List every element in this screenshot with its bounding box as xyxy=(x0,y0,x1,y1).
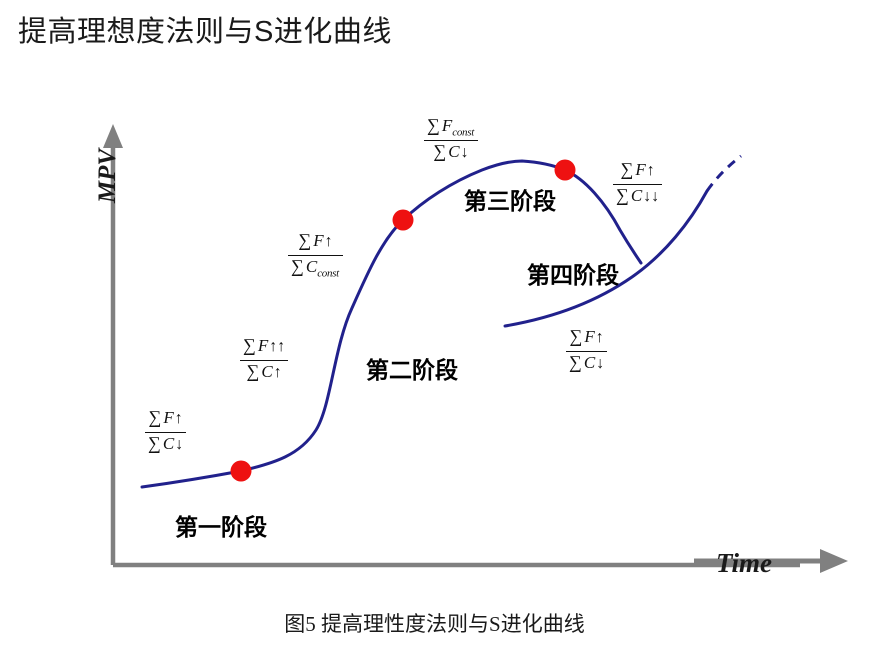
sigma-icon: ∑ xyxy=(427,115,440,135)
sigma-icon: ∑ xyxy=(243,335,256,355)
formula-denominator: ∑C↓ xyxy=(145,433,186,457)
up-arrow-icon: ↑ xyxy=(646,162,655,179)
formula-variable: F xyxy=(633,160,645,179)
up-arrow-icon: ↑ xyxy=(595,329,604,346)
formula-denominator: ∑C↓↓ xyxy=(613,185,662,209)
formula-stage-3: ∑Fconst ∑C↓ xyxy=(424,116,478,165)
formula-denominator: ∑Cconst xyxy=(288,256,343,280)
formula-variable: C xyxy=(161,434,174,453)
sigma-icon: ∑ xyxy=(148,433,161,453)
formula-variable: F xyxy=(582,327,594,346)
figure-caption: 图5 提高理性度法则与S进化曲线 xyxy=(0,608,869,638)
up-arrow-icon: ↑ xyxy=(273,364,282,381)
stage-1-label: 第一阶段 xyxy=(175,508,267,542)
formula-variable: F xyxy=(161,408,173,427)
sigma-icon: ∑ xyxy=(620,159,633,179)
stage-3-label: 第三阶段 xyxy=(464,182,556,216)
formula-variable: C xyxy=(582,353,595,372)
up-arrow-icon: ↑ xyxy=(324,233,333,250)
sigma-icon: ∑ xyxy=(569,352,582,372)
down-arrow-icon: ↓ xyxy=(460,144,469,161)
stage-2-to-3-marker xyxy=(393,210,414,231)
formula-variable: F xyxy=(311,231,323,250)
formula-variable: F xyxy=(256,336,268,355)
slide-canvas: 提高理想度法则与S进化曲线 MPV Time 第一阶段 第二阶段 第三阶段 第四… xyxy=(0,0,869,656)
formula-stage-2-upper: ∑F↑ ∑Cconst xyxy=(288,231,343,280)
formula-stage-2-lower: ∑F↑↑ ∑C↑ xyxy=(240,336,288,385)
sigma-icon: ∑ xyxy=(148,407,161,427)
arrow-icon xyxy=(339,259,340,276)
arrow-icon xyxy=(474,118,475,135)
formula-numerator: ∑F↑ xyxy=(566,327,607,352)
double-down-arrow-icon: ↓↓ xyxy=(642,188,659,205)
right-arrow-icon xyxy=(820,549,848,573)
formula-variable: C xyxy=(629,186,642,205)
down-arrow-icon: ↓ xyxy=(595,355,604,372)
sigma-icon: ∑ xyxy=(247,361,260,381)
main-s-curve xyxy=(142,161,641,487)
stage-4-label: 第四阶段 xyxy=(527,256,619,290)
sigma-icon: ∑ xyxy=(569,326,582,346)
formula-numerator: ∑F↑ xyxy=(613,160,662,185)
formula-variable: F xyxy=(440,116,452,135)
sigma-icon: ∑ xyxy=(298,230,311,250)
up-arrow-icon: ↑↑ xyxy=(268,338,285,355)
stage-3-to-4-marker xyxy=(555,160,576,181)
formula-variable: C xyxy=(446,142,459,161)
formula-numerator: ∑F↑ xyxy=(145,408,186,433)
y-axis-arrow-icon xyxy=(103,124,123,148)
formula-denominator: ∑C↓ xyxy=(566,352,607,376)
x-axis-label: Time xyxy=(716,548,772,579)
stage-1-to-2-marker xyxy=(231,461,252,482)
formula-denominator: ∑C↑ xyxy=(240,361,288,385)
sigma-icon: ∑ xyxy=(291,256,304,276)
stage-2-label: 第二阶段 xyxy=(366,351,458,385)
formula-denominator: ∑C↓ xyxy=(424,141,478,165)
up-arrow-icon: ↑ xyxy=(174,410,183,427)
down-arrow-icon: ↓ xyxy=(174,436,183,453)
formula-variable: C xyxy=(304,257,317,276)
formula-stage-4-lower: ∑F↑ ∑C↓ xyxy=(566,327,607,376)
formula-numerator: ∑F↑↑ xyxy=(240,336,288,361)
formula-numerator: ∑F↑ xyxy=(288,231,343,256)
formula-numerator: ∑Fconst xyxy=(424,116,478,141)
formula-variable: C xyxy=(259,362,272,381)
formula-stage-1: ∑F↑ ∑C↓ xyxy=(145,408,186,457)
formula-subscript: const xyxy=(452,126,474,138)
formula-stage-4-upper: ∑F↑ ∑C↓↓ xyxy=(613,160,662,209)
formula-subscript: const xyxy=(317,267,339,279)
sigma-icon: ∑ xyxy=(433,141,446,161)
next-generation-curve-dashed xyxy=(707,156,741,191)
sigma-icon: ∑ xyxy=(616,185,629,205)
y-axis-label: MPV xyxy=(94,149,122,203)
